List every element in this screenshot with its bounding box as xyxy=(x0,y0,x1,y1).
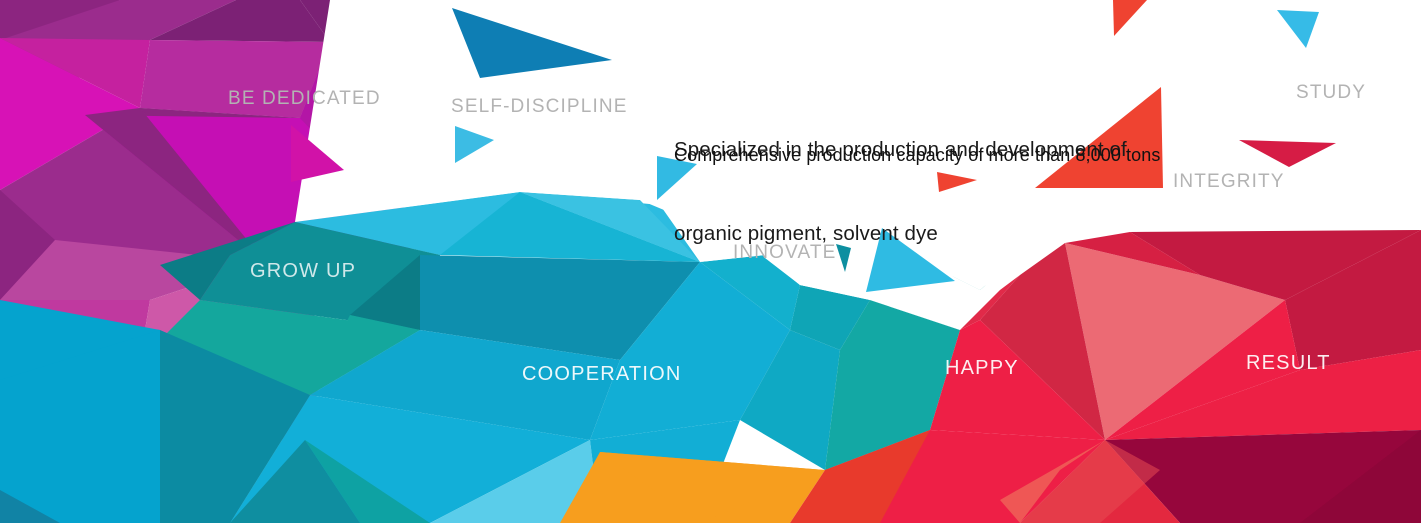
banner-canvas: Specialized in the production and develo… xyxy=(0,0,1421,523)
headline-subtitle: Comprehensive production capacity of mor… xyxy=(674,144,1160,166)
headline-block: Specialized in the production and develo… xyxy=(674,80,1127,304)
headline-line-2: organic pigment, solvent dye xyxy=(674,220,1127,248)
